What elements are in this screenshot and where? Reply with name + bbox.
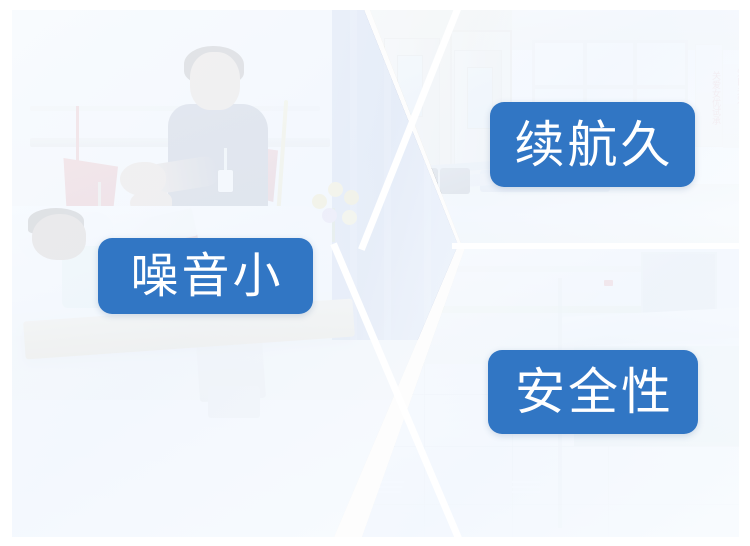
bag-cord — [76, 106, 79, 164]
patient-figure — [32, 214, 86, 260]
patient-monitor-2 — [440, 168, 470, 194]
feature-badge-battery[interactable]: 续航久 — [490, 102, 695, 187]
wall-banner-left: 关爱女优试承 — [695, 44, 723, 147]
staff-id-badge — [218, 170, 233, 192]
floor-marking-center — [512, 481, 540, 495]
alarm-indicator — [604, 280, 613, 286]
feature-banner: 关爱女优试承 爱口关爱 — [0, 0, 750, 546]
feature-badge-safety[interactable]: 安全性 — [488, 350, 698, 434]
feature-badge-noise[interactable]: 噪音小 — [98, 238, 313, 314]
floor-marking-left — [372, 481, 405, 495]
flower-bouquet — [308, 178, 370, 236]
wall-banner-right: 爱口关爱 — [723, 64, 739, 148]
